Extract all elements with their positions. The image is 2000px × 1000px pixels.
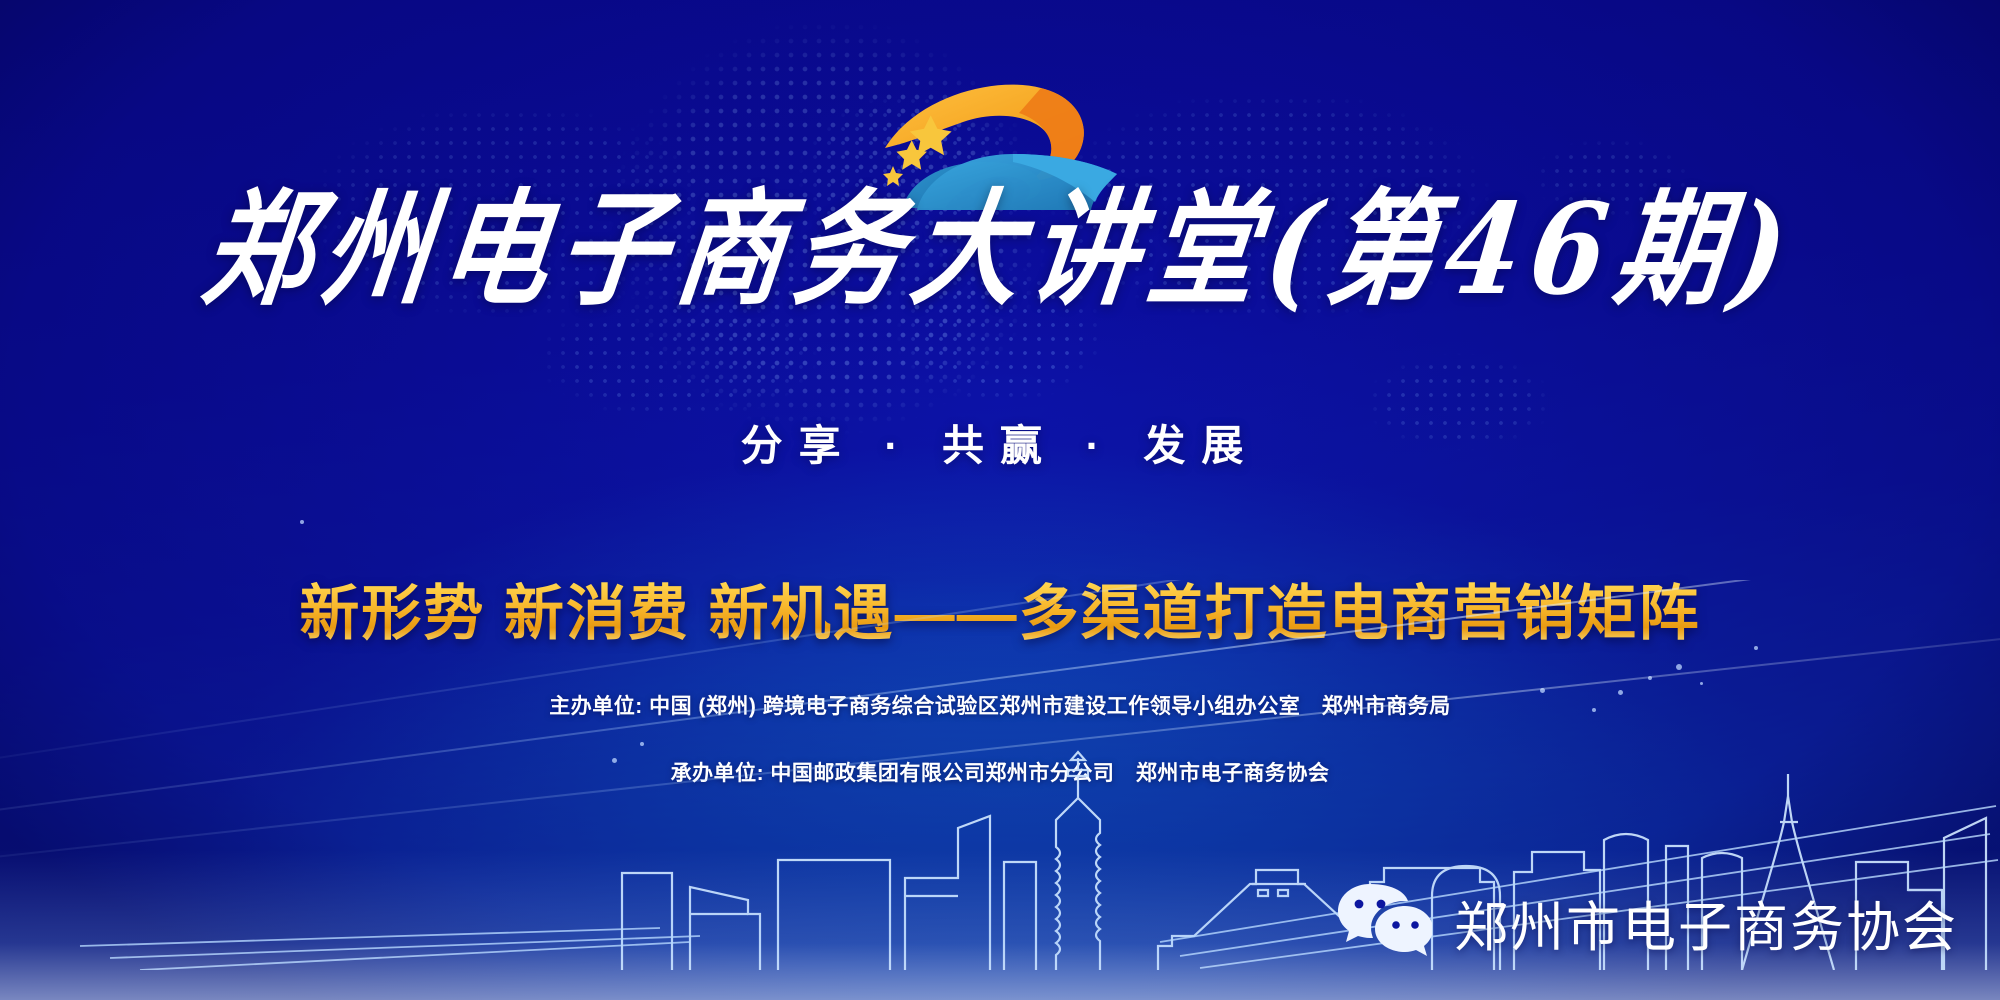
wechat-icon: [1336, 880, 1432, 964]
wechat-lockup[interactable]: 郑州市电子商务协会: [1336, 880, 1958, 964]
page-title: 郑州电子商务大讲堂(第46期): [197, 187, 1803, 312]
wechat-account-name: 郑州市电子商务协会: [1454, 883, 1958, 962]
poster-canvas: 郑州电子商务大讲堂(第46期) 分享 · 共赢 · 发展 新形势 新消费 新机遇…: [0, 0, 2000, 1000]
subtitle: 分享 · 共赢 · 发展: [0, 412, 2000, 473]
title-block: 郑州电子商务大讲堂(第46期): [0, 196, 2000, 304]
